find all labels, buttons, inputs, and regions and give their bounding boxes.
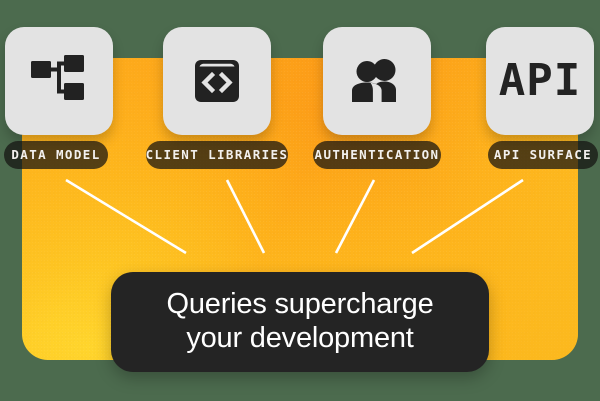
api-wordmark-icon: API (499, 59, 581, 103)
label-text-authentication: AUTHENTICATION (315, 149, 440, 162)
label-text-data-model: DATA MODEL (11, 149, 100, 162)
people-icon (346, 57, 408, 105)
headline-box: Queries supercharge your development (111, 272, 489, 372)
label-pill-api-surface: API SURFACE (488, 141, 598, 169)
label-text-client-libraries: CLIENT LIBRARIES (146, 149, 289, 162)
headline-text: Queries supercharge your development (152, 288, 447, 355)
card-client-libraries[interactable] (163, 27, 271, 135)
card-api-surface[interactable]: API (486, 27, 594, 135)
label-pill-authentication: AUTHENTICATION (313, 141, 441, 169)
label-pill-data-model: DATA MODEL (4, 141, 108, 169)
headline-line-2: your development (186, 322, 413, 354)
card-authentication[interactable] (323, 27, 431, 135)
hierarchy-icon (31, 55, 87, 107)
label-pill-client-libraries: CLIENT LIBRARIES (146, 141, 288, 169)
card-data-model[interactable] (5, 27, 113, 135)
headline-line-1: Queries supercharge (166, 288, 433, 320)
diagram-canvas: DATA MODEL CLIENT LIBRARIES AUT (0, 0, 600, 401)
code-brackets-icon (190, 54, 244, 108)
label-text-api-surface: API SURFACE (494, 149, 592, 162)
